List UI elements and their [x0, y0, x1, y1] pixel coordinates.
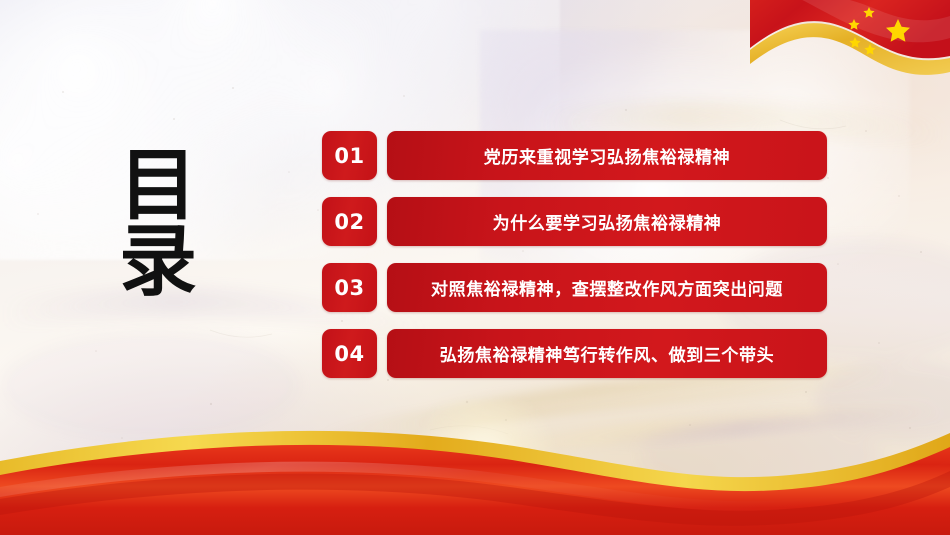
agenda-number-02[interactable]: 02 — [322, 197, 377, 246]
slide-canvas: 目 录 01 党历来重视学习弘扬焦裕禄精神 02 为什么要学习弘扬焦裕禄精神 0… — [0, 0, 950, 535]
agenda-item-03[interactable]: 03 对照焦裕禄精神，查摆整改作风方面突出问题 — [322, 263, 827, 312]
page-title-char-1: 目 — [108, 148, 208, 224]
agenda-label-02[interactable]: 为什么要学习弘扬焦裕禄精神 — [387, 197, 827, 246]
red-ribbon-wave — [0, 425, 950, 535]
agenda-number-03[interactable]: 03 — [322, 263, 377, 312]
agenda-number-01[interactable]: 01 — [322, 131, 377, 180]
agenda-list: 01 党历来重视学习弘扬焦裕禄精神 02 为什么要学习弘扬焦裕禄精神 03 对照… — [322, 131, 827, 378]
agenda-item-04[interactable]: 04 弘扬焦裕禄精神笃行转作风、做到三个带头 — [322, 329, 827, 378]
agenda-label-01[interactable]: 党历来重视学习弘扬焦裕禄精神 — [387, 131, 827, 180]
page-title-char-2: 录 — [108, 224, 208, 300]
agenda-label-03[interactable]: 对照焦裕禄精神，查摆整改作风方面突出问题 — [387, 263, 827, 312]
chinese-flag — [750, 0, 950, 86]
agenda-label-04[interactable]: 弘扬焦裕禄精神笃行转作风、做到三个带头 — [387, 329, 827, 378]
page-title: 目 录 — [108, 148, 208, 301]
agenda-item-02[interactable]: 02 为什么要学习弘扬焦裕禄精神 — [322, 197, 827, 246]
agenda-item-01[interactable]: 01 党历来重视学习弘扬焦裕禄精神 — [322, 131, 827, 180]
agenda-number-04[interactable]: 04 — [322, 329, 377, 378]
